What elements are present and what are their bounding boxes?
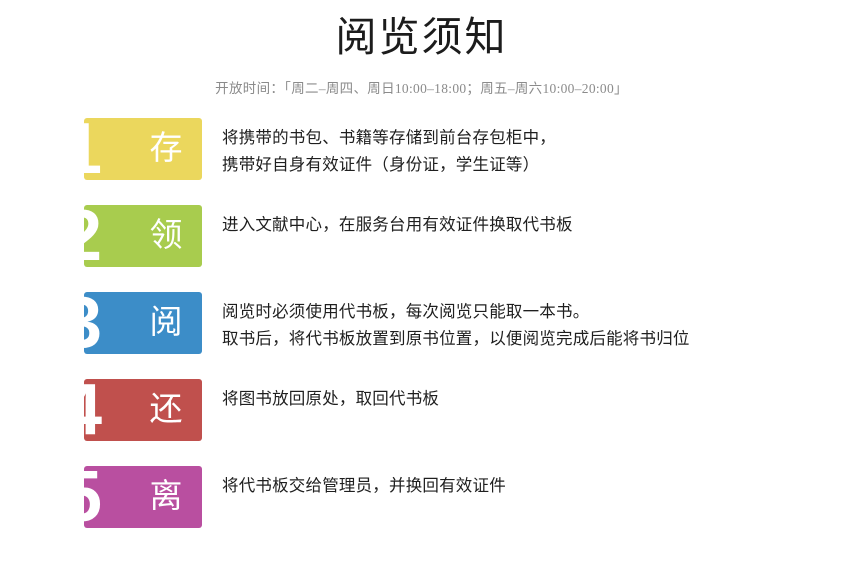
step-description-line: 将图书放回原处，取回代书板 (222, 385, 843, 412)
reading-notice-page: 阅览须知 开放时间：「周二–周四、周日10:00–18:00；周五–周六10:0… (0, 0, 843, 565)
step-keyword-character: 还 (138, 385, 194, 435)
step-description-line: 进入文献中心，在服务台用有效证件换取代书板 (222, 211, 843, 238)
step-keyword-character: 存 (138, 124, 194, 174)
step-keyword-character: 阅 (138, 298, 194, 348)
step-description: 将图书放回原处，取回代书板 (222, 379, 843, 412)
step-keyword-character: 离 (138, 472, 194, 522)
step-badge: 3阅 (62, 292, 222, 354)
step-keyword-character: 领 (138, 211, 194, 261)
step-row: 1存将携带的书包、书籍等存储到前台存包柜中，携带好自身有效证件（身份证，学生证等… (62, 118, 843, 205)
step-description: 将携带的书包、书籍等存储到前台存包柜中，携带好自身有效证件（身份证，学生证等） (222, 118, 843, 178)
step-row: 2领进入文献中心，在服务台用有效证件换取代书板 (62, 205, 843, 292)
steps-list: 1存将携带的书包、书籍等存储到前台存包柜中，携带好自身有效证件（身份证，学生证等… (0, 118, 843, 553)
step-badge: 1存 (62, 118, 222, 180)
step-row: 3阅阅览时必须使用代书板，每次阅览只能取一本书。取书后，将代书板放置到原书位置，… (62, 292, 843, 379)
page-header: 阅览须知 开放时间：「周二–周四、周日10:00–18:00；周五–周六10:0… (0, 0, 843, 98)
step-badge: 4还 (62, 379, 222, 441)
step-row: 4还将图书放回原处，取回代书板 (62, 379, 843, 466)
step-description-line: 携带好自身有效证件（身份证，学生证等） (222, 151, 843, 178)
opening-hours-subtitle: 开放时间：「周二–周四、周日10:00–18:00；周五–周六10:00–20:… (0, 80, 843, 98)
page-title: 阅览须知 (0, 12, 843, 62)
step-badge: 2领 (62, 205, 222, 267)
step-description-line: 将代书板交给管理员，并换回有效证件 (222, 472, 843, 499)
step-description-line: 取书后，将代书板放置到原书位置，以便阅览完成后能将书归位 (222, 325, 843, 352)
step-row: 5离将代书板交给管理员，并换回有效证件 (62, 466, 843, 553)
step-description-line: 将携带的书包、书籍等存储到前台存包柜中， (222, 124, 843, 151)
step-description-line: 阅览时必须使用代书板，每次阅览只能取一本书。 (222, 298, 843, 325)
step-description: 进入文献中心，在服务台用有效证件换取代书板 (222, 205, 843, 238)
step-badge: 5离 (62, 466, 222, 528)
step-description: 将代书板交给管理员，并换回有效证件 (222, 466, 843, 499)
step-description: 阅览时必须使用代书板，每次阅览只能取一本书。取书后，将代书板放置到原书位置，以便… (222, 292, 843, 352)
